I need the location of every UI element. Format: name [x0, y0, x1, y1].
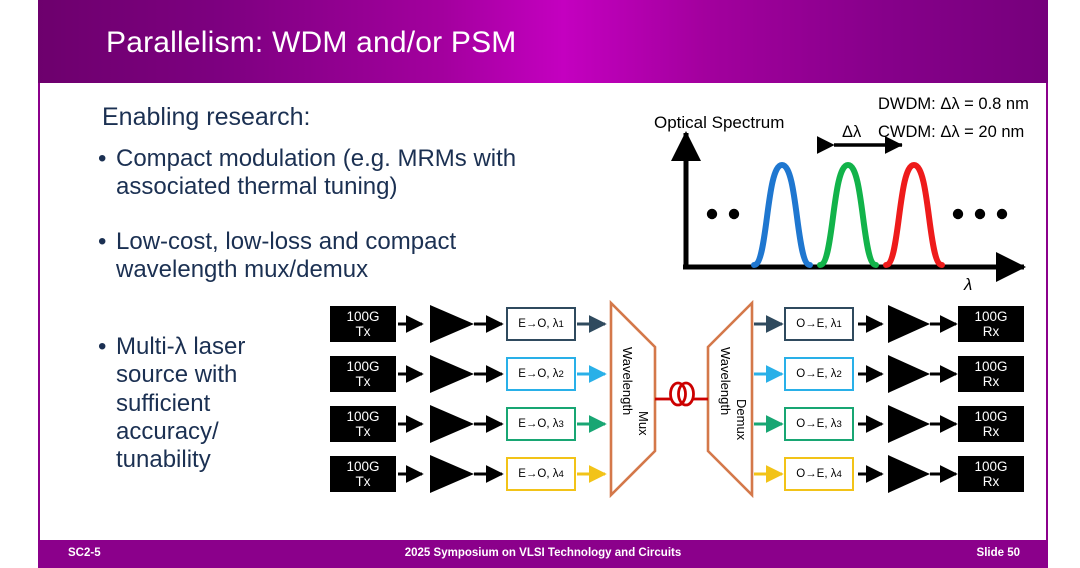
spectrum-plot [642, 97, 1048, 307]
section-heading: Enabling research: [102, 103, 310, 132]
rx-block: 100G Rx [958, 306, 1024, 342]
bullet-marker: • [98, 333, 116, 475]
oe-index: 3 [836, 419, 841, 430]
rx-block: 100G Rx [958, 406, 1024, 442]
tx-block: 100G Tx [330, 456, 396, 492]
oe-label: O→E, λ [796, 468, 836, 480]
eo-converter-lane4: E→O, λ4 [506, 457, 576, 491]
spectrum-peak-green [820, 165, 876, 265]
tx-block: 100G Tx [330, 406, 396, 442]
demux-label-demux: Demux [734, 399, 749, 440]
eo-converter-lane3: E→O, λ3 [506, 407, 576, 441]
tx-block: 100G Tx [330, 356, 396, 392]
rx-rate-label: 100G [974, 409, 1007, 424]
eo-index: 1 [558, 319, 563, 330]
slide: Parallelism: WDM and/or PSM Enabling res… [38, 0, 1048, 568]
bullet-text: Low-cost, low-loss and compact wavelengt… [116, 228, 528, 285]
rx-block: 100G Rx [958, 456, 1024, 492]
tx-type-label: Tx [356, 374, 371, 389]
rx-block: 100G Rx [958, 356, 1024, 392]
spectrum-ellipsis-right [953, 209, 1007, 219]
oe-converter-lane1: O→E, λ1 [784, 307, 854, 341]
oe-index: 4 [836, 469, 841, 480]
demux-label-wavelength: Wavelength [718, 347, 733, 415]
bullet-text: Compact modulation (e.g. MRMs with assoc… [116, 145, 608, 202]
spectrum-ellipsis-left [707, 209, 739, 219]
eo-converter-lane1: E→O, λ1 [506, 307, 576, 341]
bullet-item: • Compact modulation (e.g. MRMs with ass… [98, 145, 608, 202]
oe-index: 1 [836, 319, 841, 330]
eo-index: 4 [558, 469, 563, 480]
slide-footer: SC2-5 2025 Symposium on VLSI Technology … [38, 540, 1048, 568]
slide-title-bar: Parallelism: WDM and/or PSM [38, 0, 1048, 83]
optical-spectrum-chart: Optical Spectrum DWDM: Δλ = 0.8 nm CWDM:… [642, 97, 1048, 307]
mux-label-wavelength: Wavelength [620, 347, 635, 415]
bullet-item: • Low-cost, low-loss and compact wavelen… [98, 228, 528, 285]
spectrum-peak-blue [754, 165, 810, 265]
eo-index: 3 [558, 419, 563, 430]
bullet-marker: • [98, 228, 116, 285]
rx-rate-label: 100G [974, 459, 1007, 474]
oe-label: O→E, λ [796, 418, 836, 430]
rx-type-label: Rx [983, 324, 1000, 339]
tx-rate-label: 100G [346, 459, 379, 474]
tx-block: 100G Tx [330, 306, 396, 342]
eo-label: E→O, λ [518, 318, 558, 330]
optical-fiber-link [655, 383, 708, 405]
spectrum-peak-red [886, 165, 942, 265]
eo-label: E→O, λ [518, 468, 558, 480]
mux-label-mux: Mux [636, 411, 651, 436]
footer-slide-number: Slide 50 [977, 547, 1020, 559]
tx-rate-label: 100G [346, 309, 379, 324]
eo-converter-lane2: E→O, λ2 [506, 357, 576, 391]
tx-amplifier [430, 305, 474, 493]
tx-type-label: Tx [356, 324, 371, 339]
rx-amplifier [888, 305, 930, 493]
wdm-link-diagram: 100G Tx 100G Tx 100G Tx 100G Tx E→O, λ1 … [330, 299, 1020, 519]
oe-label: O→E, λ [796, 318, 836, 330]
oe-converter-lane3: O→E, λ3 [784, 407, 854, 441]
bullet-marker: • [98, 145, 116, 202]
rx-type-label: Rx [983, 374, 1000, 389]
rx-rate-label: 100G [974, 359, 1007, 374]
eo-label: E→O, λ [518, 418, 558, 430]
tx-rate-label: 100G [346, 359, 379, 374]
oe-converter-lane4: O→E, λ4 [784, 457, 854, 491]
tx-type-label: Tx [356, 424, 371, 439]
bullet-text: Multi-λ laser source with sufficient acc… [116, 333, 308, 475]
page-title: Parallelism: WDM and/or PSM [106, 26, 517, 60]
eo-index: 2 [558, 369, 563, 380]
rx-type-label: Rx [983, 474, 1000, 489]
rx-type-label: Rx [983, 424, 1000, 439]
oe-converter-lane2: O→E, λ2 [784, 357, 854, 391]
slide-content: Enabling research: • Compact modulation … [38, 83, 1048, 540]
bullet-item: • Multi-λ laser source with sufficient a… [98, 333, 308, 475]
oe-index: 2 [836, 369, 841, 380]
tx-rate-label: 100G [346, 409, 379, 424]
rx-rate-label: 100G [974, 309, 1007, 324]
footer-conference: 2025 Symposium on VLSI Technology and Ci… [38, 547, 1048, 559]
tx-type-label: Tx [356, 474, 371, 489]
eo-label: E→O, λ [518, 368, 558, 380]
oe-label: O→E, λ [796, 368, 836, 380]
diagram-vector-layer [330, 299, 1020, 519]
